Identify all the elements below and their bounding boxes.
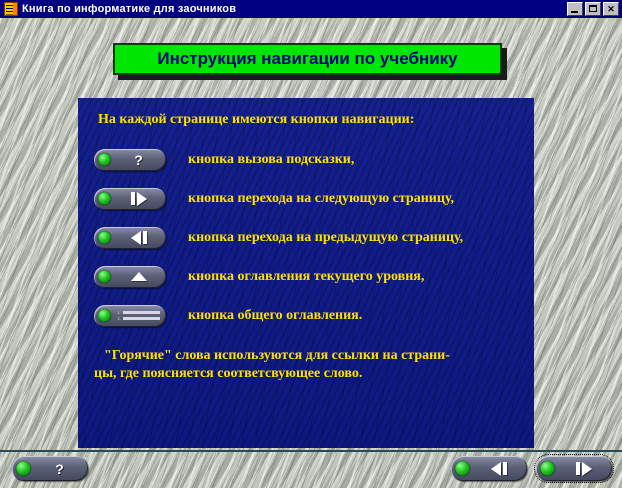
general-contents-button-sample[interactable]: 1. 2. <box>94 305 166 327</box>
list-item-label: кнопка оглавления текущего уровня, <box>188 269 424 285</box>
question-mark-icon: ? <box>31 456 88 481</box>
window-title: Книга по информатике для заочников <box>22 3 567 15</box>
previous-page-button-sample[interactable] <box>94 227 166 249</box>
list-item: кнопка перехода на предыдущую страницу, <box>94 218 518 257</box>
led-indicator-icon <box>98 270 111 283</box>
list-item-label: кнопка общего оглавления. <box>188 308 362 324</box>
panel-heading: На каждой странице имеются кнопки навига… <box>98 112 518 128</box>
led-indicator-icon <box>98 192 111 205</box>
maximize-button[interactable] <box>585 2 601 16</box>
footnote-line-2: цы, где поясняется соответсвующее слово. <box>94 365 518 383</box>
toc-item-2-number: 2. <box>118 317 121 321</box>
toolbar-right-group <box>451 456 612 481</box>
list-item: 1. 2. кнопка общего оглавления. <box>94 296 518 335</box>
table-of-contents-icon: 1. 2. <box>111 305 166 327</box>
navigation-button-list: ? кнопка вызова подсказки, кнопка перехо… <box>94 140 518 335</box>
application-window: Книга по информатике для заочников ✕ Инс… <box>0 0 622 488</box>
toolbar-left-group: ? <box>12 456 88 481</box>
question-mark-icon: ? <box>111 149 166 171</box>
led-indicator-icon <box>98 309 111 322</box>
previous-page-button[interactable] <box>451 456 527 481</box>
list-item: кнопка перехода на следующую страницу, <box>94 179 518 218</box>
window-controls: ✕ <box>567 2 619 16</box>
next-page-button-sample[interactable] <box>94 188 166 210</box>
page-header: Инструкция навигации по учебнику <box>113 43 502 75</box>
next-page-icon <box>555 456 612 481</box>
help-button-sample[interactable]: ? <box>94 149 166 171</box>
list-item: ? кнопка вызова подсказки, <box>94 140 518 179</box>
close-button[interactable]: ✕ <box>603 2 619 16</box>
banner: Инструкция навигации по учебнику <box>113 43 502 75</box>
minimize-button[interactable] <box>567 2 583 16</box>
up-arrow-icon <box>111 266 166 288</box>
footnote: "Горячие" слова используются для ссылки … <box>94 347 518 382</box>
list-item-label: кнопка вызова подсказки, <box>188 152 354 168</box>
led-indicator-icon <box>540 461 555 476</box>
list-item: кнопка оглавления текущего уровня, <box>94 257 518 296</box>
current-level-contents-button-sample[interactable] <box>94 266 166 288</box>
list-item-label: кнопка перехода на предыдущую страницу, <box>188 230 463 246</box>
list-item-label: кнопка перехода на следующую страницу, <box>188 191 454 207</box>
workspace-background: Инструкция навигации по учебнику На кажд… <box>0 18 622 488</box>
previous-page-icon <box>470 456 527 481</box>
book-document-icon <box>4 2 18 16</box>
led-indicator-icon <box>455 461 470 476</box>
led-indicator-icon <box>98 231 111 244</box>
previous-page-icon <box>111 227 166 249</box>
content-panel: На каждой странице имеются кнопки навига… <box>78 98 534 448</box>
led-indicator-icon <box>16 461 31 476</box>
title-bar[interactable]: Книга по информатике для заочников ✕ <box>0 0 622 18</box>
next-page-button[interactable] <box>536 456 612 481</box>
page-title: Инструкция навигации по учебнику <box>157 49 457 69</box>
footnote-line-1: "Горячие" слова используются для ссылки … <box>94 347 518 365</box>
led-indicator-icon <box>98 153 111 166</box>
toc-item-1-number: 1. <box>118 311 121 315</box>
next-page-icon <box>111 188 166 210</box>
bottom-toolbar: ? <box>0 452 622 488</box>
help-button[interactable]: ? <box>12 456 88 481</box>
